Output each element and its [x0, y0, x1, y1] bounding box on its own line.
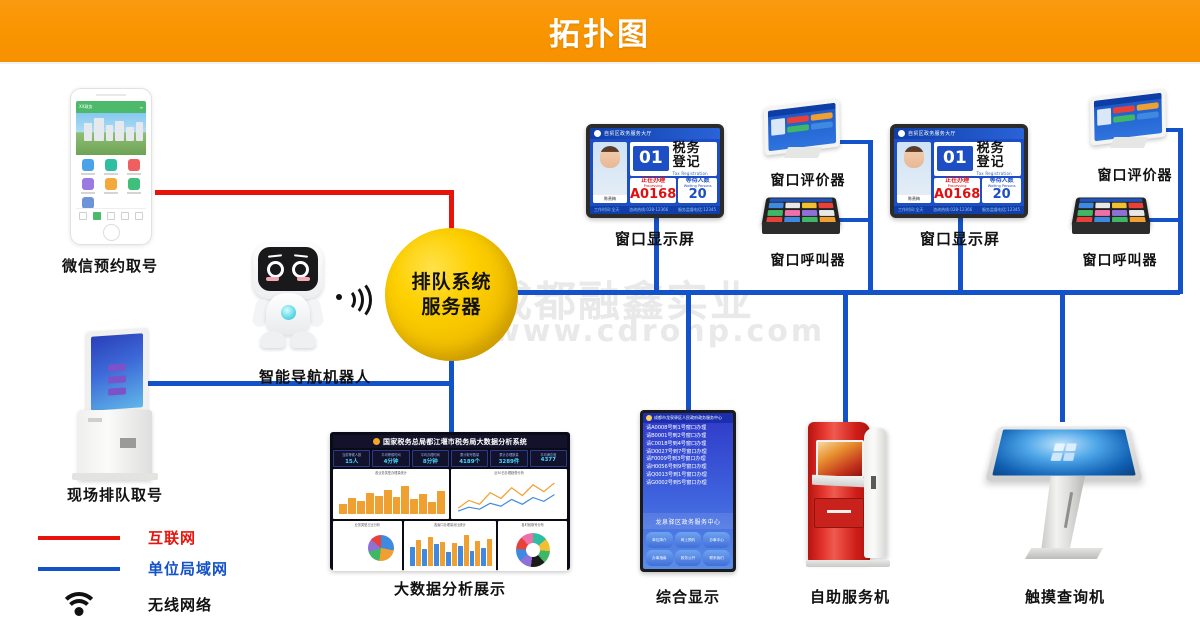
display-foot-left: 工作时间:全天	[898, 207, 923, 213]
dashboard-title: 国家税务总局都江堰市税务局大数据分析系统	[383, 437, 527, 447]
kpi-card: 平均满意度 4377	[530, 450, 567, 467]
onsite-ticket-kiosk[interactable]	[60, 330, 170, 480]
donut-hole	[526, 543, 540, 557]
center-logo-icon	[646, 415, 652, 421]
processing-cell: 正在办理 Processing A0168	[934, 178, 980, 203]
robot-eye-right	[292, 261, 309, 278]
robot-foot-right	[290, 331, 316, 348]
kiosk-base	[72, 473, 158, 480]
legend-item-internet: 互联网	[36, 522, 286, 553]
kpi-card: 平均等候时间 4分钟	[372, 450, 409, 467]
kiosk-screen	[86, 328, 148, 416]
phone-hero-image	[76, 113, 146, 155]
legend-label-wireless: 无线网络	[148, 594, 212, 615]
server-label-line2: 服务器	[421, 295, 481, 319]
window-caller-2[interactable]	[1072, 196, 1152, 244]
display-hall-title: 自贸区政务服务大厅	[908, 130, 956, 137]
pie-chart	[368, 535, 394, 561]
comprehensive-button[interactable]: 联系我们	[703, 550, 730, 566]
label-onsite-ticket: 现场排队取号	[25, 484, 205, 505]
display-foot-right: 服务监督电话:12345	[678, 207, 716, 213]
kpi-value: 4377	[531, 457, 566, 463]
tqk-screen-panel	[985, 427, 1142, 481]
line-chart-svg	[456, 479, 563, 514]
processing-number: A0168	[630, 188, 676, 202]
call-item: 请F0009号到3号窗口办理	[646, 456, 730, 463]
legend-item-lan: 单位局域网	[36, 553, 286, 584]
evaluator-stand	[1110, 137, 1148, 148]
link-lan-selfservice-drop	[843, 290, 848, 422]
phone-screen: XX政务≡	[76, 101, 146, 221]
label-touch-query: 触摸查询机	[1000, 586, 1130, 607]
robot-foot-left	[260, 331, 286, 348]
kpi-value: 4189个	[452, 457, 487, 465]
window-number: 01	[633, 146, 669, 171]
call-item: 请A0008号到1号窗口办理	[646, 425, 730, 432]
phone-speaker	[71, 89, 151, 101]
label-evaluator-2: 窗口评价器	[1075, 165, 1195, 185]
staff-photo: 陈贵梅	[897, 142, 931, 203]
waiting-count: 20	[689, 188, 707, 202]
watermark-company: 成都融鑫实业	[490, 268, 754, 329]
window-evaluator-1[interactable]	[764, 103, 844, 165]
legend-line-lan	[38, 567, 120, 571]
panel-caption: 各窗口办理量对比统计	[404, 522, 497, 527]
kpi-card: 平均办理时间 8分钟	[412, 450, 449, 467]
call-item: 请Q0013号到1号窗口办理	[646, 472, 730, 479]
kpi-value: 3289件	[491, 457, 526, 465]
panel-caption: 各业务类型办理量统计	[333, 470, 449, 475]
window-caller-1[interactable]	[762, 196, 842, 244]
link-lan-touchquery-drop	[1060, 290, 1065, 422]
robot-face-screen	[258, 247, 318, 291]
label-window-display-1: 窗口显示屏	[585, 228, 725, 249]
chart-panel-grouped-bars: 各窗口办理量对比统计	[404, 521, 497, 571]
legend-line-internet	[38, 536, 120, 540]
legend-item-wireless: 无线网络	[36, 584, 286, 621]
legend-label-lan: 单位局域网	[148, 558, 228, 579]
comprehensive-display[interactable]: 成都市龙泉驿区人民政府政务服务中心 请A0008号到1号窗口办理 请B0001号…	[640, 410, 736, 572]
comprehensive-button[interactable]: 单位简介	[646, 532, 673, 548]
kpi-card: 当前等候人数 15人	[333, 450, 370, 467]
label-robot: 智能导航机器人	[215, 366, 415, 387]
legend: 互联网 单位局域网 无线网络	[36, 522, 286, 621]
phone-app-header: XX政务≡	[76, 101, 146, 113]
waiting-count: 20	[993, 188, 1011, 202]
queue-system-server-node[interactable]: 排队系统 服务器	[385, 228, 518, 361]
kpi-card: 累计办理数量 3289件	[490, 450, 527, 467]
display-foot-mid: 咨询热线:028-12366	[629, 207, 668, 213]
staff-name: 陈贵梅	[593, 195, 627, 203]
queue-call-list: 请A0008号到1号窗口办理 请B0001号到2号窗口办理 请C0018号到4号…	[643, 423, 733, 513]
label-self-service: 自助服务机	[790, 586, 910, 607]
label-comprehensive: 综合显示	[628, 586, 748, 607]
phone-app-icon[interactable]	[123, 159, 144, 175]
phone-app-icon[interactable]	[101, 159, 122, 175]
panel-caption: 各时段取号分布	[498, 522, 567, 527]
call-item: 请H0056号到9号窗口办理	[646, 464, 730, 471]
label-wechat-booking: 微信预约取号	[30, 255, 190, 276]
wifi-icon	[62, 592, 96, 616]
header-divider	[0, 62, 1200, 64]
comprehensive-button[interactable]: 网上预约	[675, 532, 702, 548]
processing-number: A0168	[934, 188, 980, 202]
link-lan-evaluator1-drop	[868, 140, 873, 294]
center-name: 龙泉驿区政务服务中心	[655, 517, 720, 526]
service-name-en: Tax Registration	[977, 171, 1018, 176]
phone-app-icon[interactable]	[101, 178, 122, 194]
touch-query-kiosk[interactable]	[985, 418, 1145, 573]
wifi-signal-icon	[334, 281, 364, 315]
kpi-value: 15人	[334, 457, 369, 465]
panel-caption: 业务类型占比分析	[333, 522, 402, 527]
ssm-side-panel	[864, 428, 886, 558]
window-number: 01	[937, 146, 973, 171]
display-foot-left: 工作时间:全天	[594, 207, 619, 213]
call-item: 请B0001号到2号窗口办理	[646, 433, 730, 440]
display-foot-mid: 咨询热线:028-12366	[933, 207, 972, 213]
dashboard-kpi-row: 当前等候人数 15人 平均等候时间 4分钟 平均办理时间 8分钟 累计取号数量 …	[333, 450, 567, 467]
label-bigdata: 大数据分析展示	[360, 578, 540, 599]
tqk-base	[1025, 548, 1103, 559]
evaluator-stand	[784, 147, 822, 158]
label-evaluator-1: 窗口评价器	[748, 170, 868, 190]
phone-app-grid[interactable]	[76, 155, 146, 215]
ssm-drawer	[814, 498, 864, 528]
call-item: 请G0002号到5号窗口办理	[646, 480, 730, 487]
phone-home-button[interactable]	[71, 224, 151, 241]
service-name-en: Tax Registration	[673, 171, 714, 176]
phone-app-icon[interactable]	[123, 178, 144, 194]
page-header: 拓扑图	[0, 0, 1200, 62]
service-name-cn: 税务登记	[673, 142, 714, 171]
chart-panel-line: 近30日办理趋势分析	[451, 469, 567, 519]
legend-label-internet: 互联网	[148, 527, 196, 548]
comprehensive-button[interactable]: 办事指南	[646, 550, 673, 566]
label-window-display-2: 窗口显示屏	[890, 228, 1030, 249]
robot-eye-left	[267, 261, 284, 278]
server-label-line1: 排队系统	[411, 270, 491, 294]
link-lan-comprehensive-drop	[686, 290, 691, 412]
self-service-machine[interactable]	[800, 418, 900, 573]
phone-app-icon[interactable]	[78, 178, 99, 194]
waiting-cell: 等待人数 Waiting Persons 20	[982, 178, 1021, 203]
waiting-cell: 等待人数 Waiting Persons 20	[678, 178, 717, 203]
phone-app-title: XX政务	[79, 104, 92, 110]
comprehensive-button[interactable]: 政务公开	[675, 550, 702, 566]
kpi-card: 累计取号数量 4189个	[451, 450, 488, 467]
robot-core-light	[281, 305, 296, 320]
watermark-url: www.cdrohp.com	[492, 314, 825, 349]
caller-base	[762, 222, 840, 234]
link-internet-horizontal	[155, 190, 452, 195]
dashboard-logo-icon	[373, 438, 380, 445]
phone-tabbar[interactable]	[76, 208, 146, 221]
kpi-value: 8分钟	[413, 457, 448, 465]
tqk-column	[1041, 476, 1085, 552]
display-hall-title: 自贸区政务服务大厅	[604, 130, 652, 137]
ssm-base	[806, 560, 890, 567]
display-foot-right: 服务监督电话:12345	[982, 207, 1020, 213]
comprehensive-title: 成都市龙泉驿区人民政府政务服务中心	[654, 415, 722, 421]
processing-cell: 正在办理 Processing A0168	[630, 178, 676, 203]
window-display-screen-2[interactable]: 自贸区政务服务大厅 陈贵梅 01 税务登记 Tax Registration	[890, 124, 1028, 218]
center-name-bar: 龙泉驿区政务服务中心	[643, 513, 733, 529]
chart-panel-bars: 各业务类型办理量统计	[333, 469, 449, 519]
kpi-value: 4分钟	[373, 457, 408, 465]
call-item: 请C0018号到4号窗口办理	[646, 441, 730, 448]
chart-panel-donut: 各时段取号分布	[498, 521, 567, 571]
robot-head	[253, 243, 323, 299]
wechat-booking-phone[interactable]: XX政务≡	[70, 88, 152, 245]
window-display-screen-1[interactable]: 自贸区政务服务大厅 陈贵梅 01 税务登记 Tax Registration	[586, 124, 724, 218]
staff-name: 陈贵梅	[897, 195, 931, 203]
phone-app-icon[interactable]	[78, 159, 99, 175]
service-name-cn: 税务登记	[977, 142, 1018, 171]
topology-diagram: 拓扑图 成都融鑫实业 www.cdrohp.com 排队系统 服务器 XX政务≡	[0, 0, 1200, 621]
panel-caption: 近30日办理趋势分析	[451, 470, 567, 475]
chart-panel-pie-small: 业务类型占比分析	[333, 521, 402, 571]
bigdata-dashboard[interactable]: 国家税务总局都江堰市税务局大数据分析系统 当前等候人数 15人 平均等候时间 4…	[330, 432, 570, 570]
label-caller-2: 窗口呼叫器	[1060, 250, 1180, 270]
call-item: 请D0027号到7号窗口办理	[646, 449, 730, 456]
robot-body	[266, 293, 310, 335]
page-title: 拓扑图	[549, 9, 651, 54]
caller-base	[1072, 222, 1150, 234]
label-caller-1: 窗口呼叫器	[748, 250, 868, 270]
dashboard-title-bar: 国家税务总局都江堰市税务局大数据分析系统	[333, 435, 567, 448]
windows-logo-icon	[1050, 444, 1076, 461]
window-evaluator-2[interactable]	[1090, 93, 1170, 155]
comprehensive-button-grid[interactable]: 单位简介 网上预约 办事中心 办事指南 政务公开 联系我们	[643, 529, 733, 569]
comprehensive-button[interactable]: 办事中心	[703, 532, 730, 548]
staff-photo: 陈贵梅	[593, 142, 627, 203]
ssm-screen	[816, 440, 864, 478]
kiosk-body	[78, 410, 152, 480]
navigation-robot[interactable]	[248, 243, 328, 353]
